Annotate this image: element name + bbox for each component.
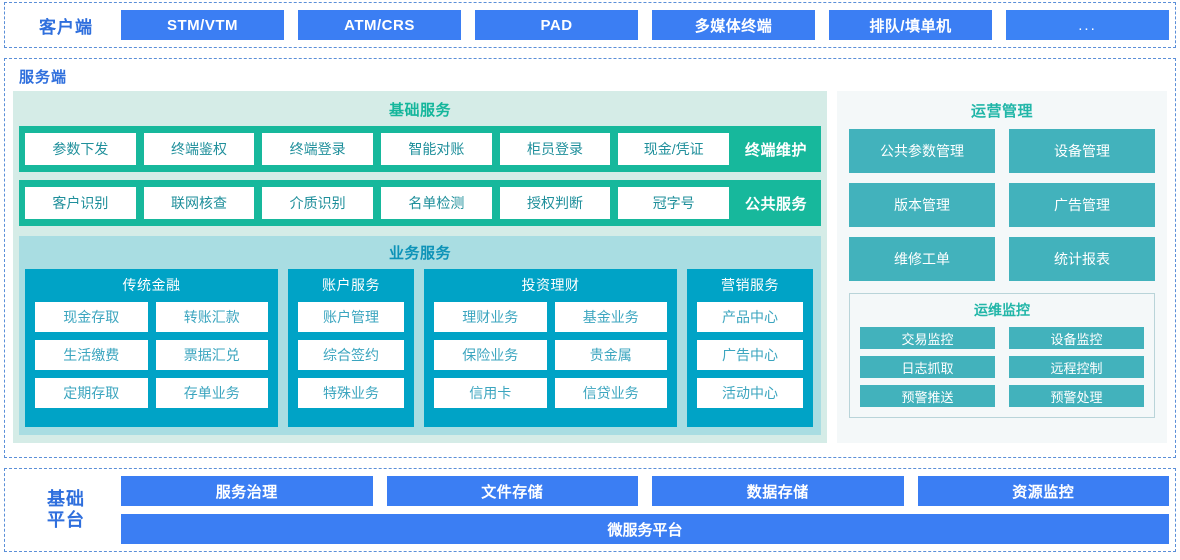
business-service-item[interactable]: 活动中心	[697, 378, 803, 408]
business-service-group-title: 营销服务	[697, 273, 803, 302]
business-service-group: 投资理财理财业务基金业务保险业务贵金属信用卡信贷业务	[424, 269, 677, 427]
business-service-item[interactable]: 基金业务	[555, 302, 668, 332]
business-service-item[interactable]: 票据汇兑	[156, 340, 269, 370]
microservice-platform-bar[interactable]: 微服务平台	[121, 514, 1169, 544]
operations-management-items: 公共参数管理设备管理版本管理广告管理维修工单统计报表	[849, 129, 1155, 281]
platform-capability-list: 服务治理文件存储数据存储资源监控	[121, 476, 1169, 506]
platform-capability-button[interactable]: 文件存储	[387, 476, 639, 506]
basic-service-item[interactable]: 终端登录	[262, 133, 373, 165]
business-service-item[interactable]: 现金存取	[35, 302, 148, 332]
business-services-groups: 传统金融现金存取转账汇款生活缴费票据汇兑定期存取存单业务账户服务账户管理综合签约…	[25, 269, 815, 427]
operations-monitor-item[interactable]: 预警推送	[860, 385, 995, 407]
business-service-item[interactable]: 特殊业务	[298, 378, 404, 408]
business-service-item[interactable]: 广告中心	[697, 340, 803, 370]
business-service-item[interactable]: 信贷业务	[555, 378, 668, 408]
business-service-group-items: 理财业务基金业务保险业务贵金属信用卡信贷业务	[434, 302, 667, 408]
operations-monitor-item[interactable]: 远程控制	[1009, 356, 1144, 378]
basic-service-item[interactable]: 智能对账	[381, 133, 492, 165]
operations-monitor-item[interactable]: 预警处理	[1009, 385, 1144, 407]
operations-monitor-item[interactable]: 交易监控	[860, 327, 995, 349]
platform-capability-button[interactable]: 数据存储	[652, 476, 904, 506]
business-service-item[interactable]: 保险业务	[434, 340, 547, 370]
basic-service-item[interactable]: 客户识别	[25, 187, 136, 219]
business-service-group-items: 现金存取转账汇款生活缴费票据汇兑定期存取存单业务	[35, 302, 268, 408]
operations-monitor-title: 运维监控	[860, 296, 1144, 327]
business-service-item[interactable]: 存单业务	[156, 378, 269, 408]
basic-service-item[interactable]: 联网核查	[144, 187, 255, 219]
business-service-group-title: 账户服务	[298, 273, 404, 302]
client-terminal-button[interactable]: STM/VTM	[121, 10, 284, 40]
platform-layer-section: 基础 平台 服务治理文件存储数据存储资源监控 微服务平台	[4, 468, 1176, 552]
business-services-panel: 业务服务 传统金融现金存取转账汇款生活缴费票据汇兑定期存取存单业务账户服务账户管…	[19, 236, 821, 435]
business-service-item[interactable]: 理财业务	[434, 302, 547, 332]
basic-service-item[interactable]: 授权判断	[500, 187, 611, 219]
client-layer-section: 客户端 STM/VTMATM/CRSPAD多媒体终端排队/填单机...	[4, 2, 1176, 48]
client-layer-label: 客户端	[11, 13, 121, 38]
business-service-group: 账户服务账户管理综合签约特殊业务	[288, 269, 414, 427]
business-service-group-title: 投资理财	[434, 273, 667, 302]
business-service-item[interactable]: 账户管理	[298, 302, 404, 332]
business-service-group-title: 传统金融	[35, 273, 268, 302]
basic-service-item[interactable]: 冠字号	[618, 187, 729, 219]
platform-layer-body: 服务治理文件存储数据存储资源监控 微服务平台	[121, 476, 1169, 544]
business-service-group: 传统金融现金存取转账汇款生活缴费票据汇兑定期存取存单业务	[25, 269, 278, 427]
operations-management-panel: 运营管理 公共参数管理设备管理版本管理广告管理维修工单统计报表 运维监控 交易监…	[837, 91, 1167, 443]
business-service-group-items: 账户管理综合签约特殊业务	[298, 302, 404, 408]
client-terminal-button[interactable]: 多媒体终端	[652, 10, 815, 40]
business-service-item[interactable]: 信用卡	[434, 378, 547, 408]
operations-management-item[interactable]: 版本管理	[849, 183, 995, 227]
basic-service-item[interactable]: 参数下发	[25, 133, 136, 165]
business-service-item[interactable]: 转账汇款	[156, 302, 269, 332]
operations-monitor-panel: 运维监控 交易监控设备监控日志抓取远程控制预警推送预警处理	[849, 293, 1155, 418]
basic-services-panel: 基础服务 参数下发终端鉴权终端登录智能对账柜员登录现金/凭证终端维护客户识别联网…	[13, 91, 827, 443]
basic-service-item[interactable]: 介质识别	[262, 187, 373, 219]
basic-service-item[interactable]: 名单检测	[381, 187, 492, 219]
platform-label-line2: 平台	[11, 510, 121, 531]
client-terminal-button[interactable]: ...	[1006, 10, 1169, 40]
operations-management-item[interactable]: 设备管理	[1009, 129, 1155, 173]
basic-services-bands: 参数下发终端鉴权终端登录智能对账柜员登录现金/凭证终端维护客户识别联网核查介质识…	[19, 126, 821, 234]
operations-management-title: 运营管理	[849, 95, 1155, 129]
basic-service-band-tag: 终端维护	[737, 139, 815, 160]
operations-monitor-items: 交易监控设备监控日志抓取远程控制预警推送预警处理	[860, 327, 1144, 407]
operations-management-item[interactable]: 公共参数管理	[849, 129, 995, 173]
client-terminal-button[interactable]: 排队/填单机	[829, 10, 992, 40]
operations-monitor-item[interactable]: 日志抓取	[860, 356, 995, 378]
basic-service-band-tag: 公共服务	[737, 193, 815, 214]
business-service-group: 营销服务产品中心广告中心活动中心	[687, 269, 813, 427]
client-terminal-list: STM/VTMATM/CRSPAD多媒体终端排队/填单机...	[121, 10, 1169, 40]
basic-service-item[interactable]: 现金/凭证	[618, 133, 729, 165]
business-service-item[interactable]: 产品中心	[697, 302, 803, 332]
platform-capability-button[interactable]: 资源监控	[918, 476, 1170, 506]
platform-capability-button[interactable]: 服务治理	[121, 476, 373, 506]
operations-management-item[interactable]: 统计报表	[1009, 237, 1155, 281]
operations-monitor-item[interactable]: 设备监控	[1009, 327, 1144, 349]
basic-service-item[interactable]: 柜员登录	[500, 133, 611, 165]
business-service-item[interactable]: 贵金属	[555, 340, 668, 370]
server-layer-body: 基础服务 参数下发终端鉴权终端登录智能对账柜员登录现金/凭证终端维护客户识别联网…	[13, 91, 1167, 443]
operations-management-item[interactable]: 维修工单	[849, 237, 995, 281]
business-service-group-items: 产品中心广告中心活动中心	[697, 302, 803, 408]
basic-services-title: 基础服务	[19, 95, 821, 126]
platform-layer-label: 基础 平台	[11, 489, 121, 530]
client-terminal-button[interactable]: ATM/CRS	[298, 10, 461, 40]
basic-service-band: 参数下发终端鉴权终端登录智能对账柜员登录现金/凭证终端维护	[19, 126, 821, 172]
server-layer-label: 服务端	[13, 65, 1167, 91]
business-service-item[interactable]: 综合签约	[298, 340, 404, 370]
business-service-item[interactable]: 定期存取	[35, 378, 148, 408]
operations-management-item[interactable]: 广告管理	[1009, 183, 1155, 227]
platform-label-line1: 基础	[11, 489, 121, 510]
basic-service-band: 客户识别联网核查介质识别名单检测授权判断冠字号公共服务	[19, 180, 821, 226]
architecture-diagram: 客户端 STM/VTMATM/CRSPAD多媒体终端排队/填单机... 服务端 …	[0, 0, 1180, 560]
server-layer-section: 服务端 基础服务 参数下发终端鉴权终端登录智能对账柜员登录现金/凭证终端维护客户…	[4, 58, 1176, 458]
basic-service-item[interactable]: 终端鉴权	[144, 133, 255, 165]
business-services-title: 业务服务	[25, 238, 815, 269]
business-service-item[interactable]: 生活缴费	[35, 340, 148, 370]
client-terminal-button[interactable]: PAD	[475, 10, 638, 40]
